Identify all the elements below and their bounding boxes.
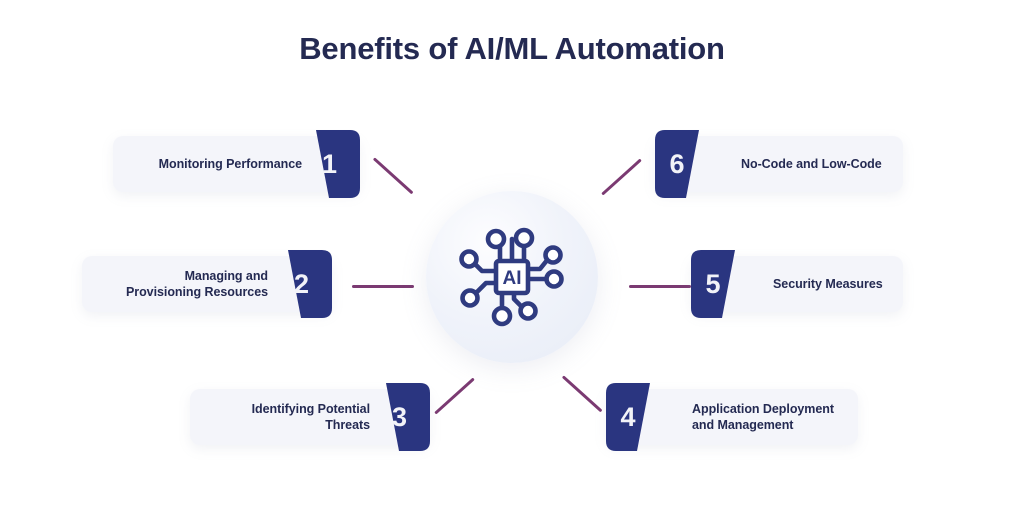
- ai-chip-icon: AI: [452, 217, 572, 337]
- connector-line-4: [562, 375, 602, 412]
- benefit-number-1: 1: [299, 130, 360, 198]
- benefit-number-4: 4: [606, 383, 650, 451]
- benefit-label-2: Managing and Provisioning Resources: [96, 256, 268, 312]
- benefit-number-2: 2: [271, 250, 332, 318]
- benefit-card-1[interactable]: Monitoring Performance 1: [113, 136, 360, 192]
- benefit-card-5[interactable]: 5 Security Measures: [691, 256, 903, 312]
- benefit-card-4[interactable]: 4 Application Deployment and Management: [606, 389, 858, 445]
- benefit-label-6: No-Code and Low-Code: [741, 136, 901, 192]
- benefit-label-5: Security Measures: [773, 256, 903, 312]
- benefit-badge-1: 1: [299, 130, 360, 198]
- infographic-canvas: Benefits of AI/ML Automation: [0, 0, 1024, 525]
- benefit-card-6[interactable]: 6 No-Code and Low-Code: [655, 136, 903, 192]
- benefit-number-5: 5: [691, 250, 735, 318]
- benefit-badge-6: 6: [655, 130, 716, 198]
- benefit-label-4: Application Deployment and Management: [692, 389, 858, 445]
- connector-line-2: [352, 285, 414, 288]
- connector-line-3: [434, 378, 474, 415]
- benefit-card-2[interactable]: Managing and Provisioning Resources 2: [82, 256, 332, 312]
- chip-label: AI: [503, 268, 522, 289]
- benefit-badge-2: 2: [271, 250, 332, 318]
- page-title: Benefits of AI/ML Automation: [0, 31, 1024, 67]
- benefit-number-6: 6: [655, 130, 699, 198]
- benefit-badge-5: 5: [691, 250, 752, 318]
- benefit-label-1: Monitoring Performance: [127, 136, 302, 192]
- benefit-card-3[interactable]: Identifying Potential Threats 3: [190, 389, 430, 445]
- connector-line-5: [629, 285, 691, 288]
- connector-line-1: [373, 157, 413, 194]
- benefit-number-3: 3: [369, 383, 430, 451]
- benefit-label-3: Identifying Potential Threats: [204, 389, 370, 445]
- benefit-badge-4: 4: [606, 383, 667, 451]
- center-hub: AI: [426, 191, 598, 363]
- benefit-badge-3: 3: [369, 383, 430, 451]
- connector-line-6: [601, 159, 641, 196]
